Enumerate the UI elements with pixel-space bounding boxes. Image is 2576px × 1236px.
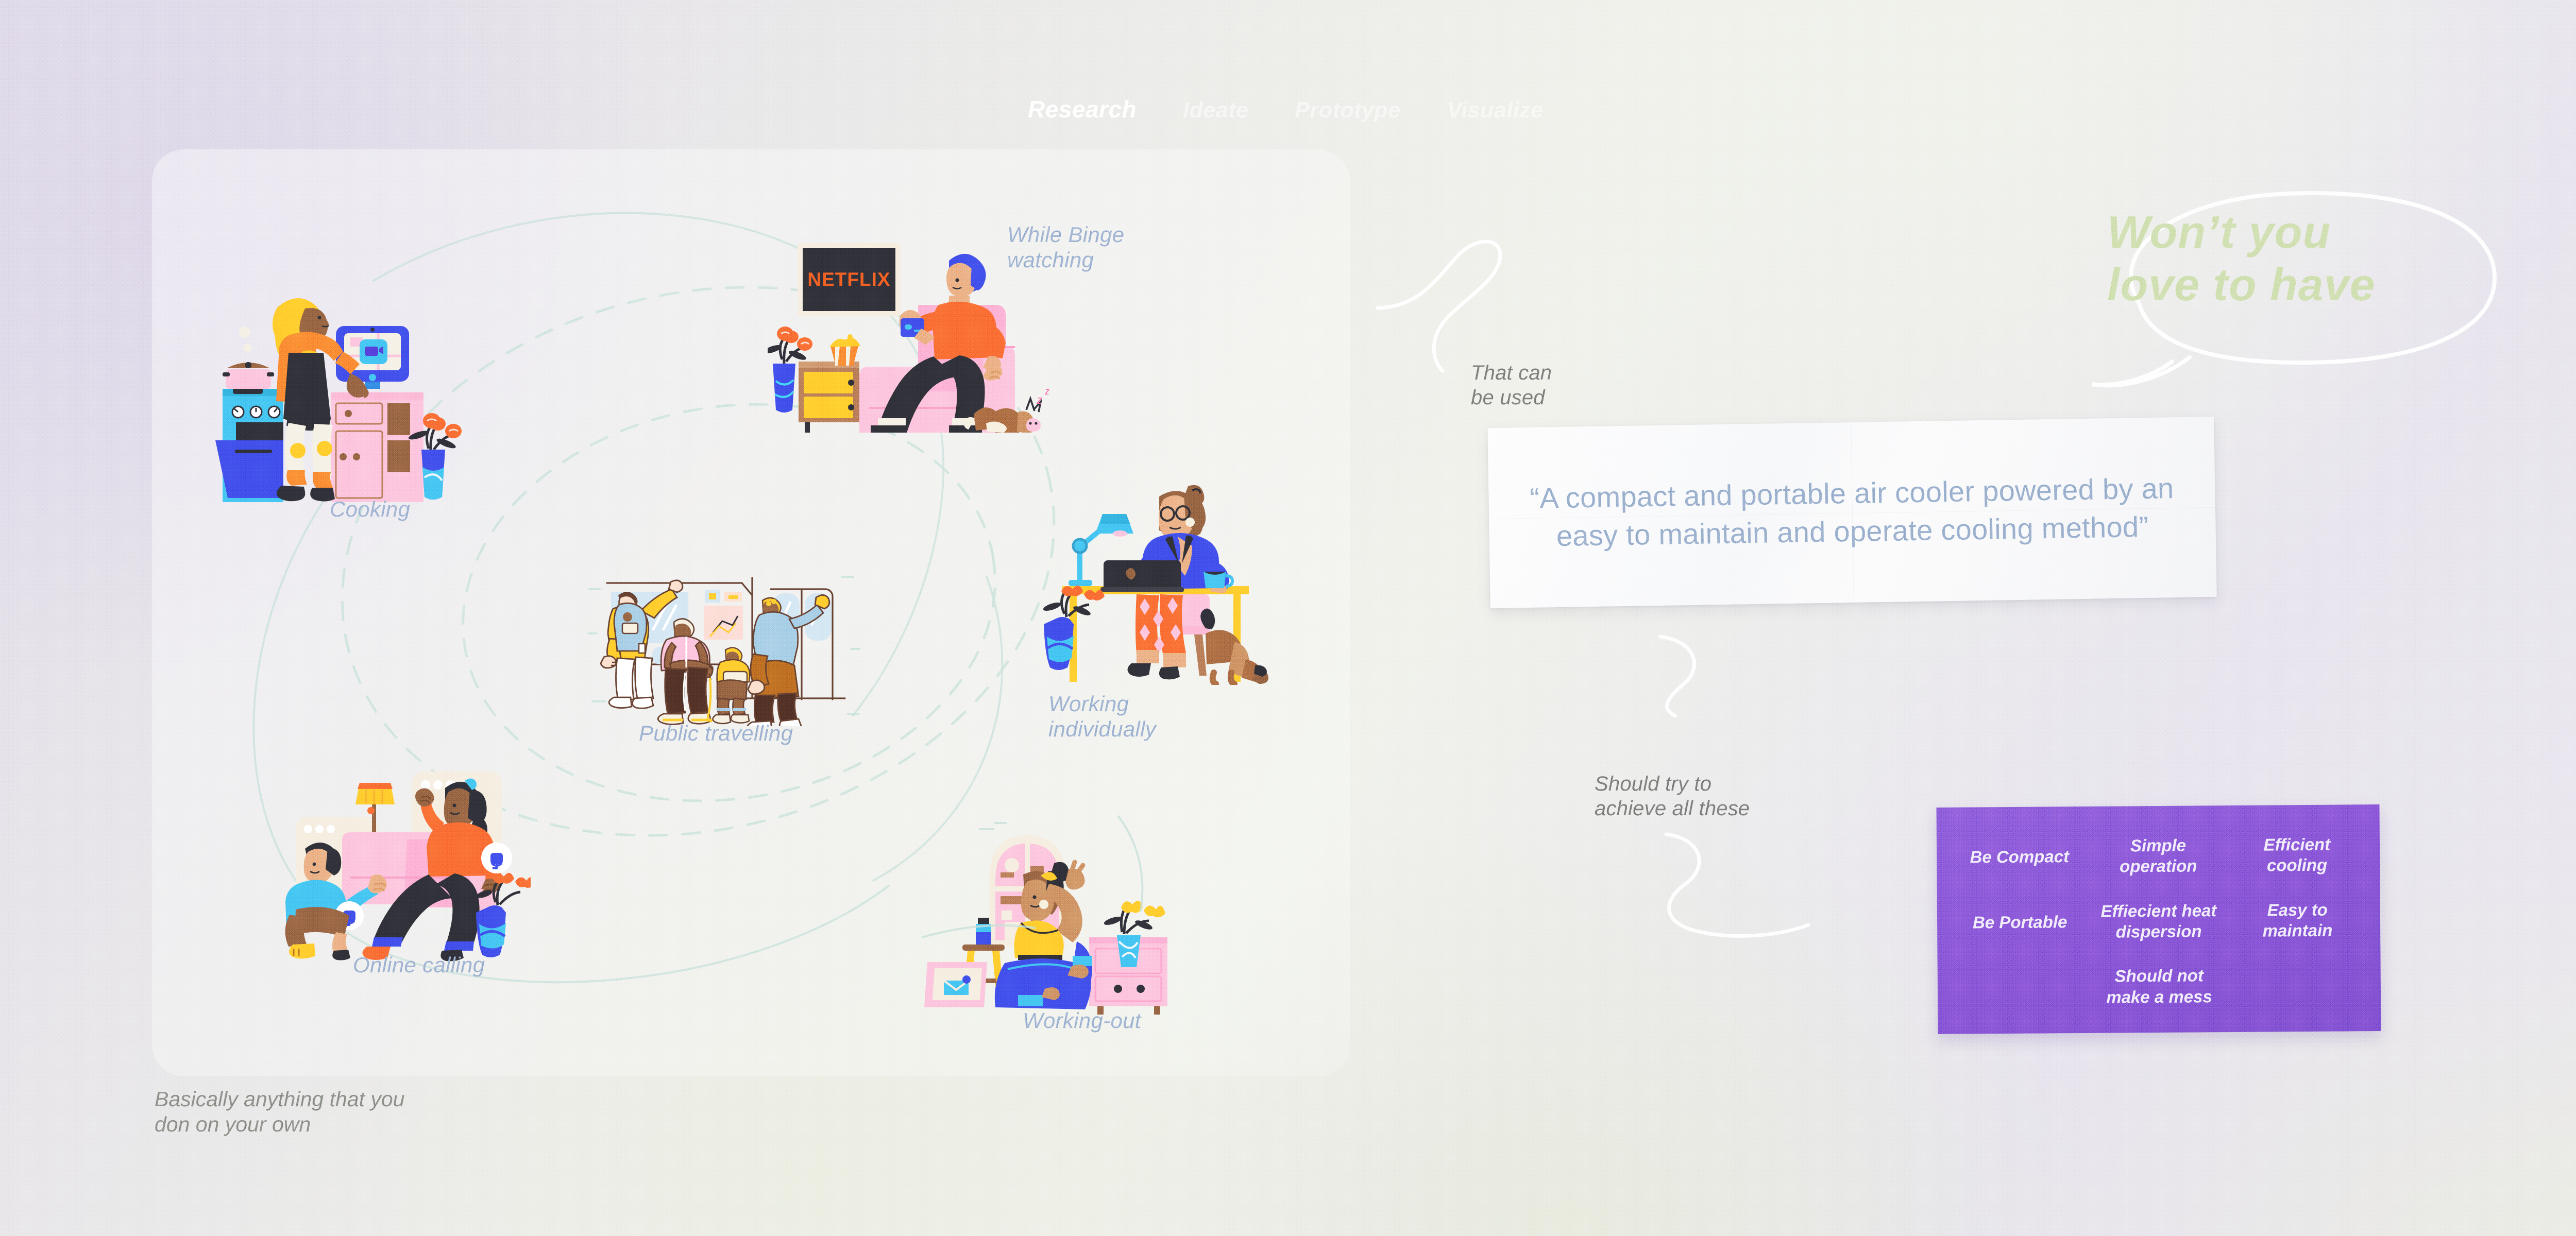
svg-text:NETFLIX: NETFLIX <box>807 269 890 290</box>
quote-card: “A compact and portable air cooler power… <box>1487 417 2216 608</box>
scene-label-working-individually: Working individually <box>1048 692 1156 742</box>
requirement-item: Should not make a mess <box>2106 966 2212 1008</box>
scene-public-travelling <box>587 572 860 726</box>
svg-text:z: z <box>1036 393 1042 406</box>
nav-item-prototype[interactable]: Prototype <box>1295 98 1400 123</box>
scene-label-online-calling: Online calling <box>353 953 485 978</box>
scene-working-out <box>922 809 1170 1015</box>
annotation-that-can-be-used: That can be used <box>1471 360 1552 410</box>
requirement-item: Efficient cooling <box>2263 834 2330 876</box>
connector-squiggle-bottom <box>1643 824 1860 958</box>
nav-item-ideate[interactable]: Ideate <box>1183 98 1248 123</box>
requirements-card: Be Compact Simple operation Efficient co… <box>1936 804 2381 1034</box>
requirement-item: Simple operation <box>2120 835 2197 878</box>
requirement-item: Be Portable <box>1973 912 2067 933</box>
quote-text: “A compact and portable air cooler power… <box>1488 468 2216 556</box>
connector-squiggle-middle <box>1638 623 1814 736</box>
requirement-item: Effiecient heat dispersion <box>2100 900 2217 942</box>
requirement-item: Easy to maintain <box>2262 899 2332 941</box>
scene-online-calling <box>273 767 531 963</box>
scene-label-working-out: Working-out <box>1023 1008 1141 1034</box>
top-nav: Research Ideate Prototype Visualize <box>1028 95 1544 123</box>
requirement-item: Be Compact <box>1970 846 2069 868</box>
scene-cooking <box>196 286 464 502</box>
scene-label-public-travelling: Public travelling <box>639 721 793 746</box>
panel-footnote: Basically anything that you don on your … <box>155 1087 404 1137</box>
nav-item-visualize[interactable]: Visualize <box>1447 98 1544 123</box>
nav-item-research[interactable]: Research <box>1028 95 1137 123</box>
scene-working-individually <box>1030 484 1288 685</box>
svg-text:z: z <box>1044 386 1049 397</box>
scene-label-cooking: Cooking <box>330 497 410 522</box>
scene-label-binge-watching: While Binge watching <box>1007 222 1124 272</box>
annotation-should-try: Should try to achieve all these <box>1595 771 1750 821</box>
headline-wont-you-love-to-have: Won’t you love to have <box>2107 206 2376 311</box>
